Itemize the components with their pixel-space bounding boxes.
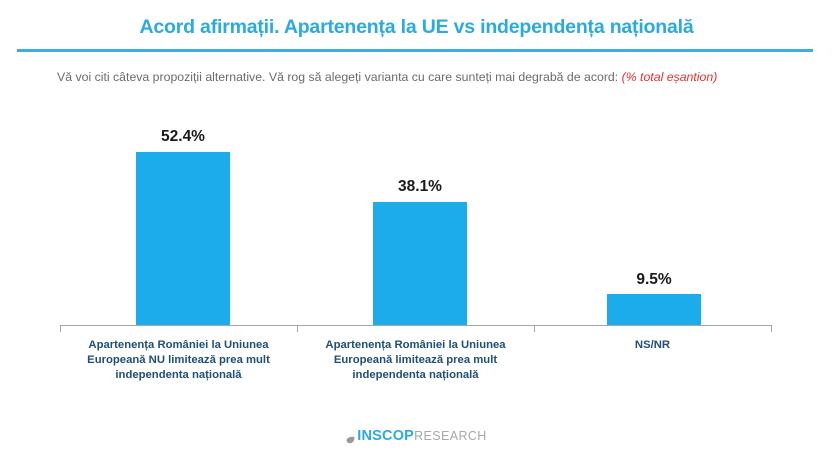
bar-segment[interactable] [373, 202, 467, 325]
bar-segment[interactable] [136, 152, 230, 325]
inscop-logo: INSCOP RESEARCH [0, 428, 833, 444]
droplet-icon [346, 432, 355, 441]
logo-text-secondary: RESEARCH [414, 429, 487, 443]
logo-text-primary: INSCOP [357, 428, 414, 444]
axis-tick [297, 325, 298, 332]
axis-tick [771, 325, 772, 332]
bar-segment[interactable] [607, 294, 701, 325]
bar-value-label: 52.4% [116, 128, 250, 146]
bar-value-label: 38.1% [353, 178, 487, 196]
x-axis-category-label: NS/NR [536, 338, 769, 353]
x-axis-category-label: Apartenența României la Uniunea European… [62, 338, 295, 383]
axis-tick [534, 325, 535, 332]
bar-value-label: 9.5% [587, 271, 721, 289]
bar-chart: 52.4% 38.1% 9.5% Apartenența României la… [0, 0, 833, 469]
slide-root: Acord afirmații. Apartenența la UE vs in… [0, 0, 833, 469]
x-axis-line [60, 325, 772, 326]
axis-tick [60, 325, 61, 332]
x-axis-category-label: Apartenența României la Uniunea European… [299, 338, 532, 383]
